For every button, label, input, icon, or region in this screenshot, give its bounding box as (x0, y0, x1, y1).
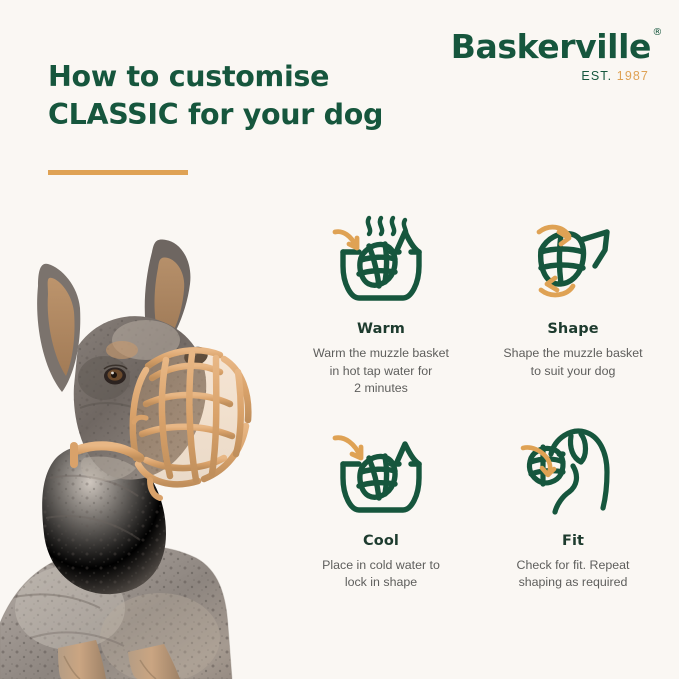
step-warm: Warm Warm the muzzle basket in hot tap w… (288, 208, 474, 398)
step-title: Shape (547, 321, 598, 337)
step-title: Warm (357, 321, 405, 337)
brand-logo: Baskerville ® EST. 1987 (451, 30, 651, 83)
dog-head-with-muzzle-icon (521, 420, 625, 524)
step-fit: Fit Check for fit. Repeat shaping as req… (480, 420, 666, 592)
step-cool: Cool Place in cold water to lock in shap… (288, 420, 474, 592)
brand-established-year: 1987 (617, 69, 649, 83)
step-title: Fit (562, 533, 584, 549)
basin-with-muzzle-icon (329, 420, 433, 524)
step-title: Cool (363, 533, 399, 549)
brand-established-label: EST. (581, 69, 612, 83)
infographic-page: Baskerville ® EST. 1987 How to customise… (0, 0, 679, 679)
registered-trademark-icon: ® (652, 28, 662, 38)
brand-wordmark: Baskerville ® (451, 30, 651, 63)
step-description: Check for fit. Repeat shaping as require… (517, 557, 630, 592)
brand-wordmark-text: Baskerville (451, 27, 651, 66)
step-shape: Shape Shape the muzzle basket to suit yo… (480, 208, 666, 398)
step-description: Warm the muzzle basket in hot tap water … (313, 345, 449, 398)
steps-grid: Warm Warm the muzzle basket in hot tap w… (288, 208, 666, 592)
title-underline-rule (48, 170, 188, 175)
dog-with-muzzle-photo (0, 228, 292, 679)
step-description: Place in cold water to lock in shape (322, 557, 440, 592)
page-title: How to customise CLASSIC for your dog (48, 58, 448, 133)
muzzle-with-bend-arrows-icon (521, 208, 625, 312)
brand-established: EST. 1987 (451, 70, 649, 83)
basin-with-muzzle-and-steam-icon (329, 208, 433, 312)
step-description: Shape the muzzle basket to suit your dog (503, 345, 642, 380)
